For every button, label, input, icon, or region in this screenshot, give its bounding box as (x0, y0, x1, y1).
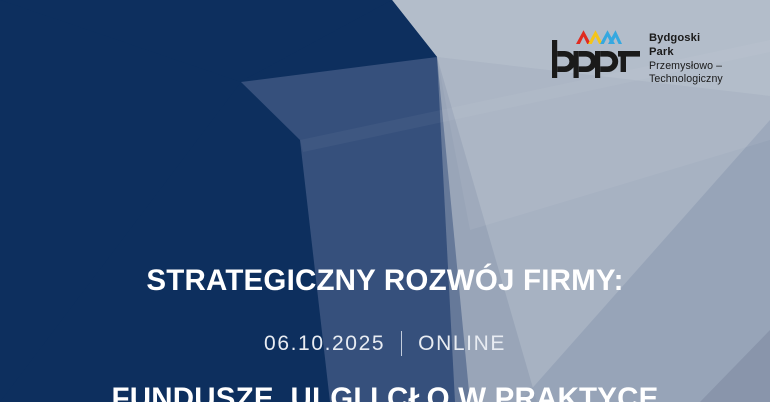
meta-divider (401, 331, 402, 356)
event-title-line-2: FUNDUSZE, ULGI I CŁO W PRAKTYCE (0, 379, 770, 402)
event-meta: 06.10.2025 ONLINE (0, 331, 770, 356)
bppt-wordmark-icon (552, 40, 640, 78)
bppt-logo: Bydgoski Park Przemysłowo – Technologicz… (552, 28, 723, 87)
bppt-logo-mark (552, 28, 640, 78)
bppt-logo-tagline: Bydgoski Park Przemysłowo – Technologicz… (649, 28, 723, 87)
tagline-line-2: Park (649, 45, 723, 59)
event-mode: ONLINE (418, 332, 506, 356)
tagline-line-1: Bydgoski (649, 31, 723, 45)
event-date: 06.10.2025 (264, 332, 385, 356)
tagline-line-4: Technologiczny (649, 73, 723, 87)
event-title: STRATEGICZNY ROZWÓJ FIRMY: FUNDUSZE, ULG… (0, 183, 770, 402)
event-banner: Bydgoski Park Przemysłowo – Technologicz… (0, 0, 770, 402)
tagline-line-3: Przemysłowo – (649, 60, 723, 74)
event-title-line-1: STRATEGICZNY ROZWÓJ FIRMY: (0, 261, 770, 300)
